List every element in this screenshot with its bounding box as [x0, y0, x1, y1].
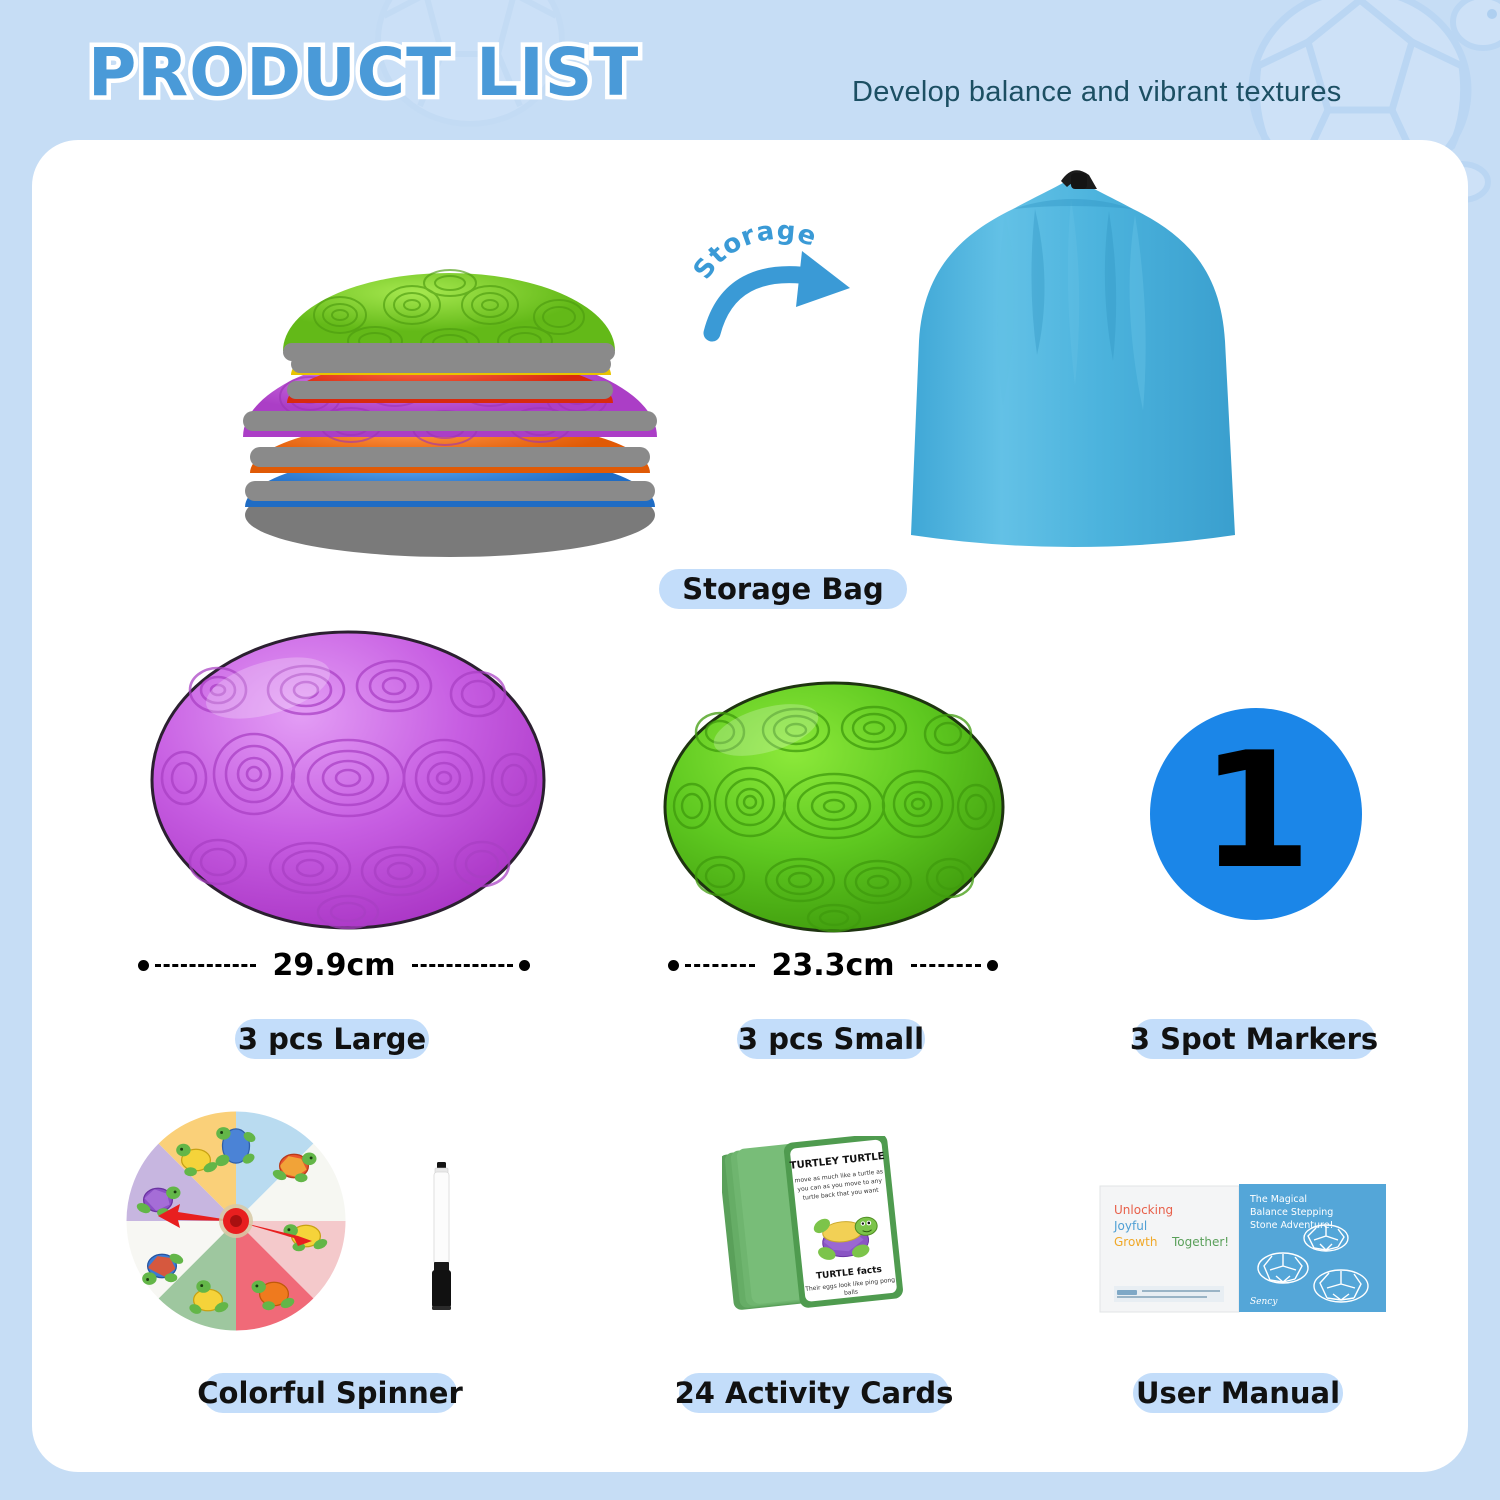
manual-front-line4: Together!: [1171, 1235, 1229, 1249]
label-activity-cards: 24 Activity Cards: [672, 1366, 956, 1420]
stacked-stepping-stones-image: [205, 185, 685, 565]
manual-front-line2: Joyful: [1113, 1219, 1147, 1233]
label-spinner: Colorful Spinner: [196, 1366, 464, 1420]
label-user-manual-text: User Manual: [1136, 1376, 1340, 1410]
manual-back-line2: Balance Stepping: [1250, 1207, 1333, 1218]
label-spot-markers: 3 Spot Markers: [1126, 1012, 1382, 1066]
dimension-dot-right: [519, 960, 530, 971]
dimension-dash-left: [155, 964, 256, 967]
dimension-dot-left: [668, 960, 679, 971]
dimension-large-stone: 29.9cm: [138, 952, 530, 978]
svg-text:balls: balls: [844, 1289, 859, 1297]
label-large-stones: 3 pcs Large: [228, 1012, 436, 1066]
dimension-dot-right: [987, 960, 998, 971]
dimension-dash-right: [412, 964, 513, 967]
page-subtitle: Develop balance and vibrant textures: [852, 76, 1342, 109]
label-storage-bag-text: Storage Bag: [682, 572, 884, 606]
label-spinner-text: Colorful Spinner: [197, 1376, 463, 1410]
storage-bag-image: [885, 155, 1260, 555]
dimension-dash-left: [685, 964, 755, 967]
label-activity-cards-text: 24 Activity Cards: [675, 1376, 954, 1410]
colorful-spinner-image: [122, 1108, 350, 1334]
dimension-dot-left: [138, 960, 149, 971]
manual-back-line1: The Magical: [1249, 1194, 1307, 1205]
label-large-stones-text: 3 pcs Large: [238, 1022, 426, 1056]
user-manual-image: Unlocking Joyful Growth Together! The Ma…: [1098, 1182, 1388, 1314]
small-stepping-stone-image: [662, 680, 1007, 935]
manual-brand: Sency: [1250, 1297, 1278, 1307]
dimension-small-value: 23.3cm: [761, 948, 904, 983]
marker-pen-image: [428, 1162, 454, 1310]
dimension-large-value: 29.9cm: [262, 948, 405, 983]
label-small-stones: 3 pcs Small: [730, 1012, 932, 1066]
label-storage-bag: Storage Bag: [652, 562, 914, 616]
spot-marker-number: 1: [1200, 731, 1311, 891]
label-user-manual: User Manual: [1126, 1366, 1350, 1420]
page-header: PRODUCT LIST Develop balance and vibrant…: [0, 0, 1500, 142]
page-title: PRODUCT LIST: [88, 34, 639, 111]
label-spot-markers-text: 3 Spot Markers: [1130, 1022, 1378, 1056]
label-small-stones-text: 3 pcs Small: [738, 1022, 924, 1056]
dimension-dash-right: [911, 964, 981, 967]
dimension-small-stone: 23.3cm: [668, 952, 998, 978]
manual-front-line3: Growth: [1114, 1235, 1157, 1249]
storage-arrow-annotation: Storage: [690, 215, 880, 345]
large-stepping-stone-image: [148, 628, 548, 933]
spot-marker-image: 1: [1150, 708, 1362, 920]
activity-cards-image: TURTLEY TURTLE move as much like a turtl…: [722, 1136, 922, 1318]
manual-front-line1: Unlocking: [1114, 1203, 1173, 1217]
